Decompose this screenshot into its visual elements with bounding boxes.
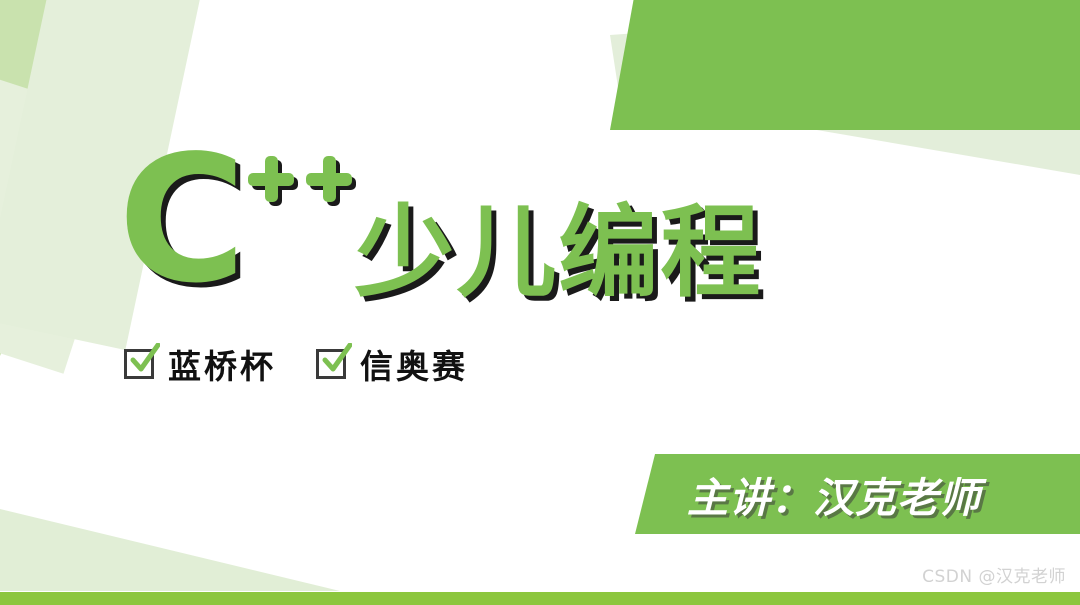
plus-icon-1 [248, 156, 294, 202]
checkbox-xinaosai[interactable] [316, 349, 346, 379]
check-icon [130, 343, 160, 375]
title-letter-c: C [118, 140, 242, 303]
csdn-watermark: CSDN @汉克老师 [922, 562, 1066, 587]
checkbox-lanqiaobei[interactable] [124, 349, 154, 379]
title-row: C 少儿编程 [118, 140, 762, 303]
bottom-green-bar [0, 592, 1080, 605]
feature-item-lanqiaobei[interactable]: 蓝桥杯 [124, 340, 276, 388]
title-chinese: 少儿编程 [354, 203, 762, 303]
feature-checkbox-row: 蓝桥杯 信奥赛 [124, 340, 468, 388]
feature-item-xinaosai[interactable]: 信奥赛 [316, 340, 468, 388]
feature-label-lanqiaobei: 蓝桥杯 [168, 340, 276, 388]
presenter-name: 主讲：汉克老师 [687, 464, 981, 524]
check-icon [322, 343, 352, 375]
page-title: C 少儿编程 [118, 140, 762, 303]
presenter-banner: 主讲：汉克老师 [635, 454, 1080, 534]
slide-canvas: C 少儿编程 蓝桥杯 信奥赛 [0, 0, 1080, 605]
bottom-left-pale-triangle [0, 509, 340, 591]
cpp-logo: C [118, 140, 352, 303]
feature-label-xinaosai: 信奥赛 [360, 340, 468, 388]
top-right-green-wedge [610, 0, 1080, 130]
plus-icon-2 [306, 156, 352, 202]
plus-sign-group [248, 156, 352, 202]
